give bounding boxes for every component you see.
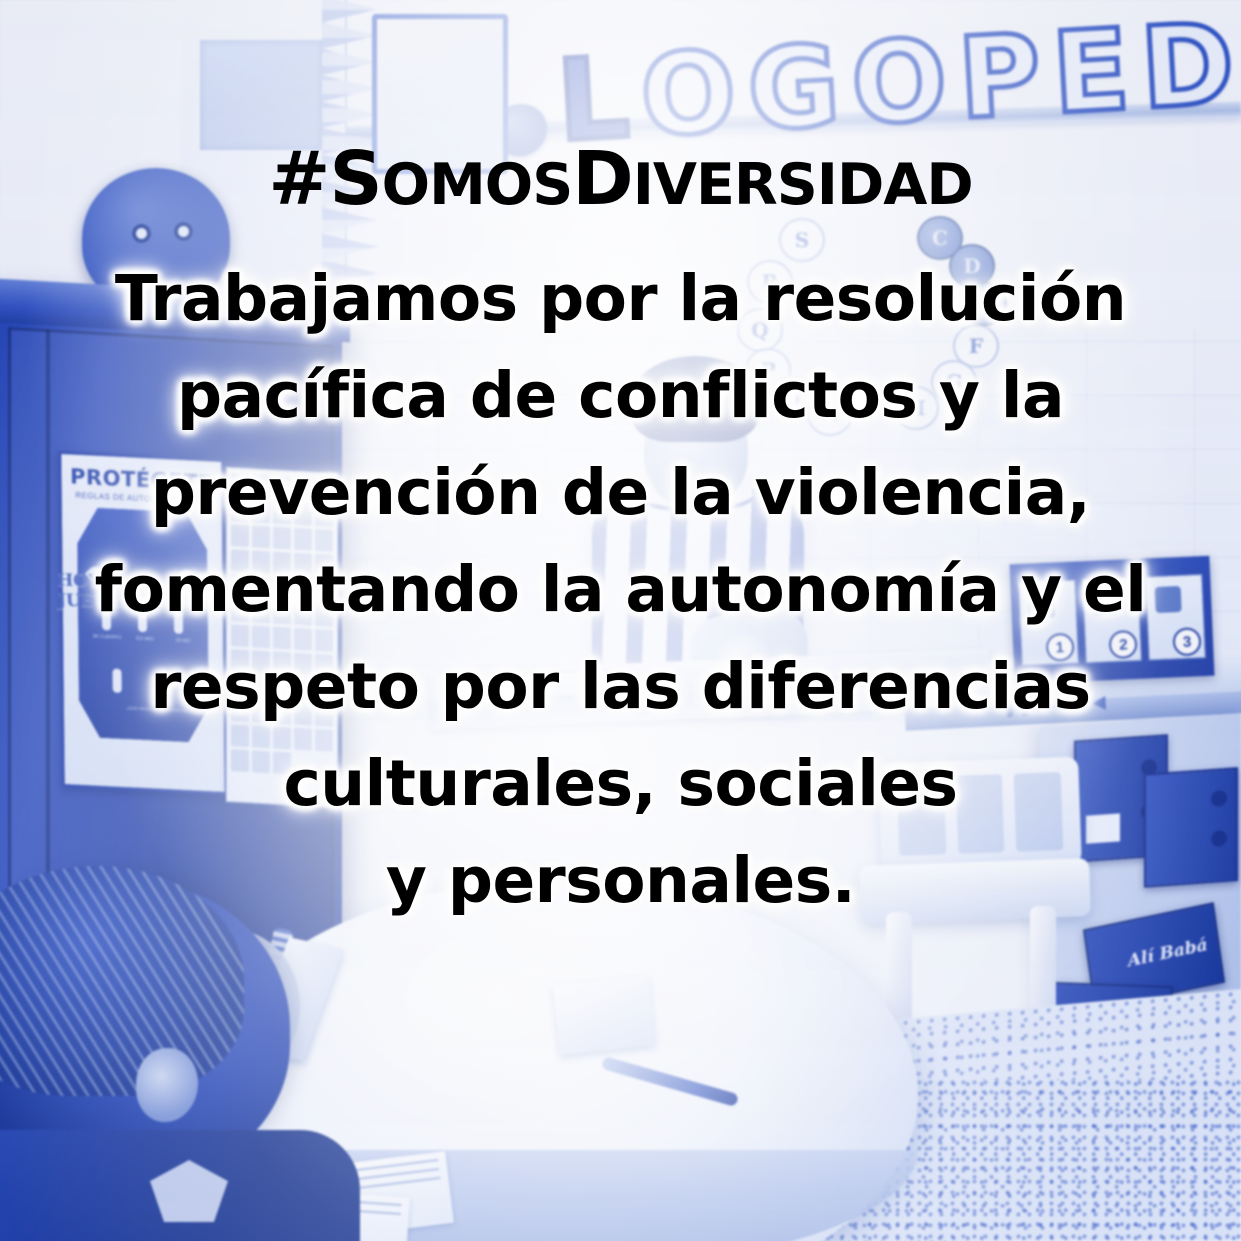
duotone-blue-tint — [0, 0, 1241, 1241]
classroom-photo-background: L O G O P E D S R Q P O N C D — [0, 0, 1241, 1241]
poster-canvas: L O G O P E D S R Q P O N C D — [0, 0, 1241, 1241]
